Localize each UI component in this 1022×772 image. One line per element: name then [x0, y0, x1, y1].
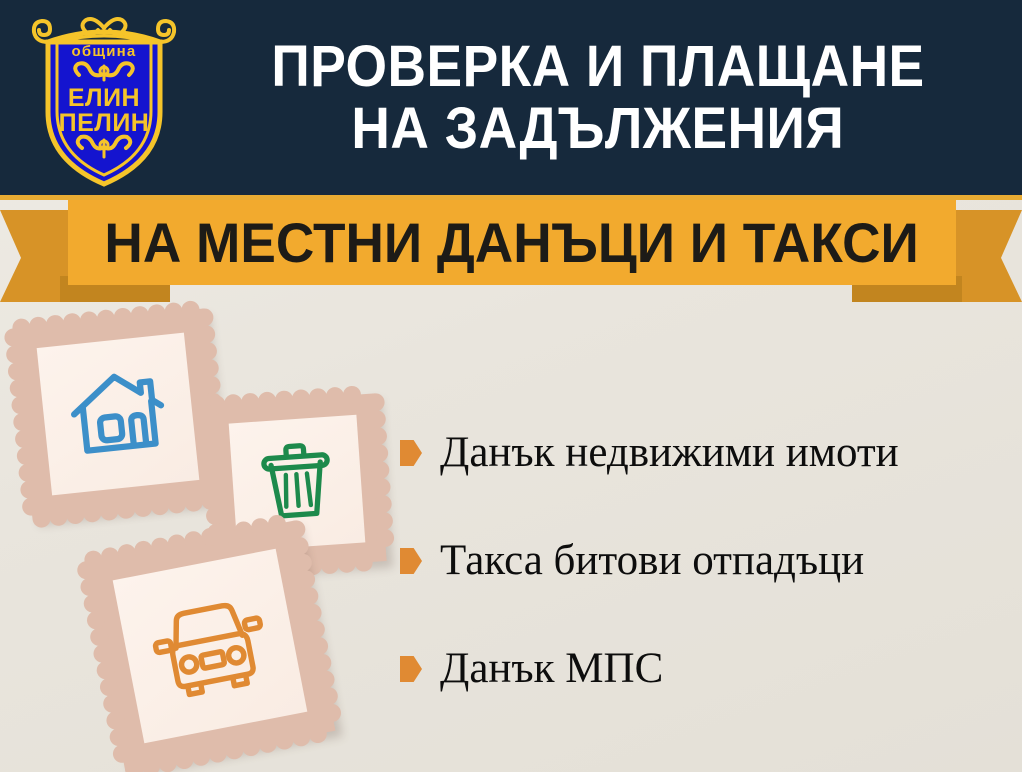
stamp-perforation: [342, 385, 361, 404]
page-title-line-1: ПРОВЕРКА И ПЛАЩАНЕ: [271, 36, 924, 98]
list-item-label: Данък недвижими имоти: [440, 428, 899, 478]
stamp-perforation: [258, 391, 277, 410]
stamp-face-vehicle: [113, 549, 308, 744]
list-item-label: Данък МПС: [440, 644, 663, 694]
stamp-perforation: [200, 421, 219, 440]
stamp-card-vehicle: [85, 521, 336, 772]
stamp-perforation: [198, 404, 217, 423]
stamp-perforation: [204, 489, 223, 508]
logo-top-text: община: [72, 43, 137, 60]
page-title: ПРОВЕРКА И ПЛАЩАНЕ НА ЗАДЪЛЖЕНИЯ: [188, 14, 1008, 182]
stamp-perforation: [202, 455, 221, 474]
page-title-line-2: НА ЗАДЪЛЖЕНИЯ: [352, 98, 845, 160]
stamp-perforation: [203, 472, 222, 491]
house-icon: [61, 357, 175, 471]
stamp-perforation: [241, 392, 260, 411]
stamp-perforation: [292, 389, 311, 408]
trash-bin-icon: [250, 436, 344, 530]
municipality-logo: община ЕЛИН ПЕЛИН: [24, 8, 184, 190]
ribbon-body: НА МЕСТНИ ДАНЪЦИ И ТАКСИ: [68, 200, 956, 285]
ribbon-label: НА МЕСТНИ ДАНЪЦИ И ТАКСИ: [105, 214, 919, 272]
stamp-perforation: [275, 390, 294, 409]
logo-name-line2: ПЕЛИН: [59, 109, 150, 137]
list-item[interactable]: Данък МПС: [400, 641, 1010, 697]
shield-crest-icon: община ЕЛИН ПЕЛИН: [24, 8, 184, 190]
list-item-label: Такса битови отпадъци: [440, 536, 864, 586]
header-banner: община ЕЛИН ПЕЛИН ПРОВЕРКА И ПЛАЩАНЕ НА …: [0, 0, 1022, 200]
stamp-perforation: [201, 438, 220, 457]
subtitle-ribbon: НА МЕСТНИ ДАНЪЦИ И ТАКСИ: [0, 192, 1022, 312]
stamp-card-property: [12, 308, 223, 519]
poster-canvas: община ЕЛИН ПЕЛИН ПРОВЕРКА И ПЛАЩАНЕ НА …: [0, 0, 1022, 772]
stamp-perforation: [325, 387, 344, 406]
bullet-arrow-icon: [400, 656, 422, 682]
stamp-perforation: [224, 394, 243, 413]
bullet-arrow-icon: [400, 548, 422, 574]
bullet-arrow-icon: [400, 440, 422, 466]
list-item[interactable]: Данък недвижими имоти: [400, 425, 1010, 481]
tax-type-list: Данък недвижими имоти Такса битови отпад…: [400, 425, 1010, 749]
car-front-icon: [141, 581, 280, 712]
logo-name-line1: ЕЛИН: [68, 84, 140, 112]
stamp-perforation: [308, 388, 327, 407]
list-item[interactable]: Такса битови отпадъци: [400, 533, 1010, 589]
stamp-face-property: [37, 333, 200, 496]
stamp-perforation: [205, 506, 224, 525]
